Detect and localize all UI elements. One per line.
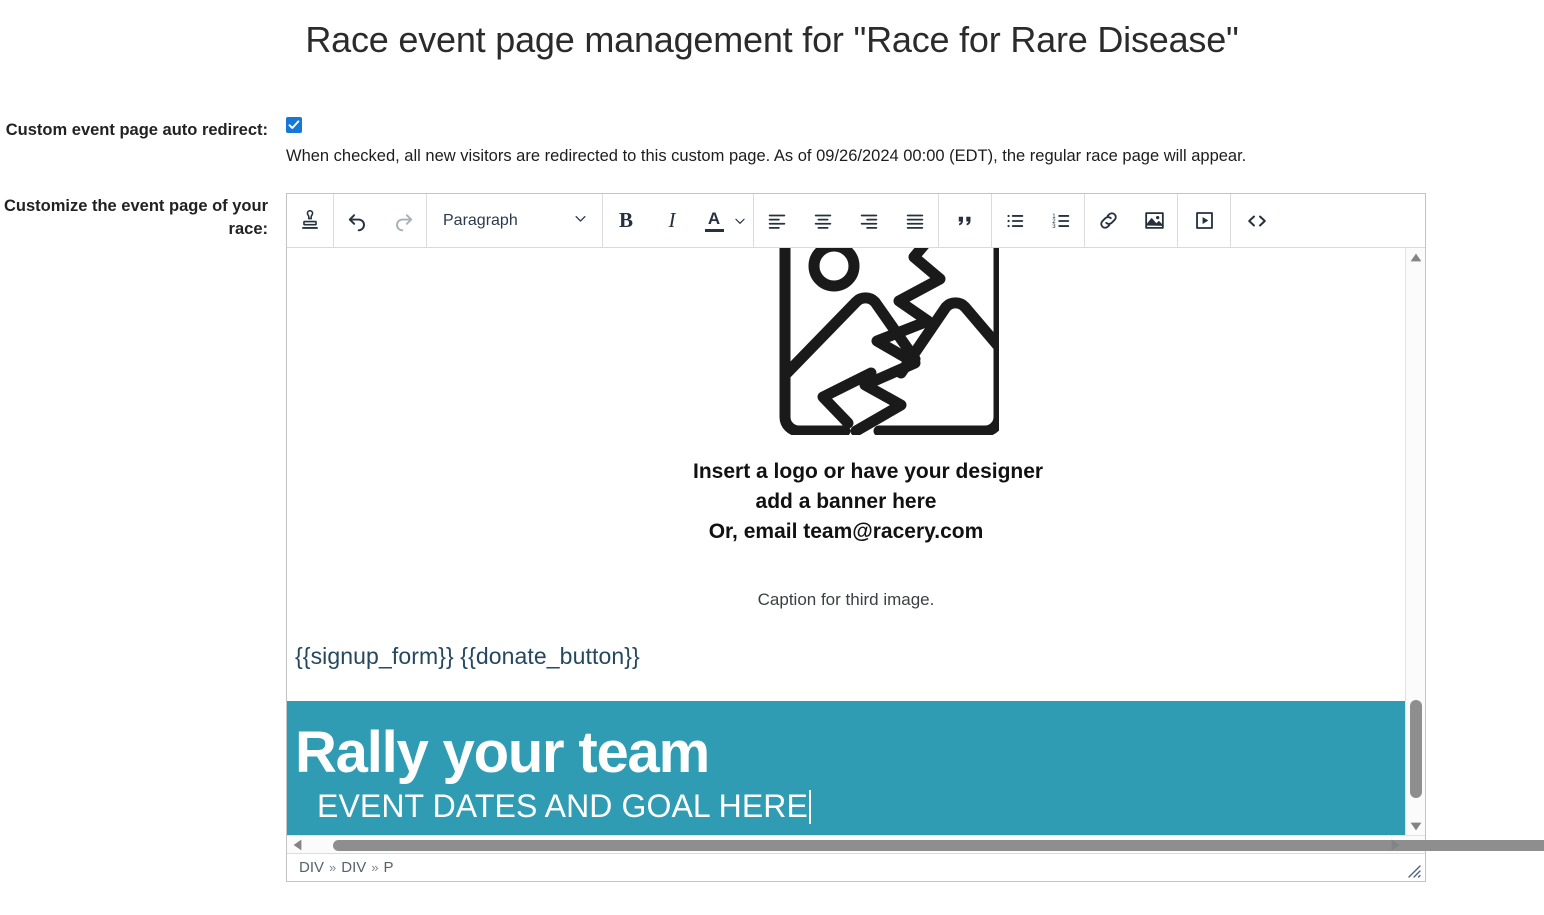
toolbar-group-blockquote: [939, 194, 992, 247]
text-color-icon[interactable]: A: [695, 194, 733, 247]
undo-icon[interactable]: [334, 194, 380, 247]
toolbar-group-source-code: [1231, 194, 1283, 247]
paragraph-format-select[interactable]: Paragraph: [427, 194, 602, 247]
template-tokens-line[interactable]: {{signup_form}} {{donate_button}}: [287, 643, 1405, 670]
align-justify-icon[interactable]: [892, 194, 938, 247]
scroll-right-arrow-icon[interactable]: [1387, 836, 1403, 854]
toolbar-group-source: [287, 194, 334, 247]
form-row-editor: Customize the event page of your race:: [0, 193, 1544, 882]
scroll-down-arrow-icon[interactable]: [1406, 817, 1425, 835]
toolbar-group-history: [334, 194, 427, 247]
page-title: Race event page management for "Race for…: [0, 0, 1544, 61]
paragraph-format-value: Paragraph: [443, 212, 518, 230]
vertical-scroll-thumb[interactable]: [1410, 700, 1422, 798]
align-left-icon[interactable]: [754, 194, 800, 247]
toolbar-group-media: [1178, 194, 1231, 247]
redo-icon[interactable]: [380, 194, 426, 247]
broken-image-icon: [693, 248, 999, 435]
editor-field: Paragraph B I: [268, 193, 1544, 882]
editor-resize-grip[interactable]: [1406, 863, 1422, 879]
text-caret: [809, 790, 811, 824]
source-code-icon[interactable]: [1231, 194, 1283, 247]
broken-image-placeholder[interactable]: Insert a logo or have your designeradd a…: [693, 248, 999, 609]
align-right-icon[interactable]: [846, 194, 892, 247]
element-path-separator: »: [371, 860, 378, 875]
toolbar-group-lists: 1 2 3: [992, 194, 1085, 247]
svg-text:3: 3: [1052, 224, 1056, 230]
editor-status-bar: DIV » DIV » P: [287, 853, 1425, 881]
paste-stamp-icon[interactable]: [287, 194, 333, 247]
text-color-dropdown-icon[interactable]: [733, 194, 753, 247]
rich-text-editor: Paragraph B I: [286, 193, 1426, 882]
auto-redirect-label: Custom event page auto redirect:: [0, 117, 268, 141]
editor-vertical-scrollbar[interactable]: [1405, 248, 1425, 835]
auto-redirect-checkbox[interactable]: [286, 117, 302, 133]
customize-event-page-label: Customize the event page of your race:: [0, 193, 268, 240]
check-icon: [288, 119, 300, 131]
editor-canvas[interactable]: Insert a logo or have your designeradd a…: [287, 248, 1405, 835]
numbered-list-icon[interactable]: 1 2 3: [1038, 194, 1084, 247]
bold-icon[interactable]: B: [603, 194, 649, 247]
form-row-auto-redirect: Custom event page auto redirect: When ch…: [0, 117, 1544, 167]
auto-redirect-help-text: When checked, all new visitors are redir…: [286, 145, 1544, 167]
toolbar-group-alignment: [754, 194, 939, 247]
editor-toolbar: Paragraph B I: [287, 194, 1425, 248]
bulleted-list-icon[interactable]: [992, 194, 1038, 247]
form-area: Custom event page auto redirect: When ch…: [0, 61, 1544, 882]
checkbox-wrapper: [286, 117, 1544, 133]
scroll-up-arrow-icon[interactable]: [1406, 248, 1425, 266]
editor-horizontal-scrollbar[interactable]: [287, 835, 1425, 853]
blockquote-icon[interactable]: [939, 194, 991, 247]
teal-banner-block[interactable]: Rally your team EVENT DATES AND GOAL HER…: [287, 701, 1405, 836]
chevron-down-icon: [573, 211, 588, 231]
element-path-separator: »: [329, 860, 336, 875]
toolbar-group-basic-styles: B I A: [603, 194, 754, 247]
link-icon[interactable]: [1085, 194, 1131, 247]
image-icon[interactable]: [1131, 194, 1177, 247]
banner-heading[interactable]: Rally your team: [295, 723, 1405, 782]
element-path-item-2[interactable]: P: [384, 859, 394, 876]
media-embed-icon[interactable]: [1178, 194, 1230, 247]
toolbar-group-block-format: Paragraph: [427, 194, 603, 247]
element-path-item-0[interactable]: DIV: [299, 859, 324, 876]
element-path-item-1[interactable]: DIV: [341, 859, 366, 876]
image-caption[interactable]: Caption for third image.: [693, 590, 999, 610]
scroll-left-arrow-icon[interactable]: [289, 836, 305, 854]
italic-icon[interactable]: I: [649, 194, 695, 247]
image-alt-text: Insert a logo or have your designeradd a…: [693, 457, 999, 547]
align-center-icon[interactable]: [800, 194, 846, 247]
editor-content-area[interactable]: Insert a logo or have your designeradd a…: [287, 248, 1425, 835]
auto-redirect-field: When checked, all new visitors are redir…: [268, 117, 1544, 167]
banner-subheading[interactable]: EVENT DATES AND GOAL HERE: [317, 788, 811, 825]
horizontal-scroll-thumb[interactable]: [333, 840, 1544, 851]
toolbar-group-insert: [1085, 194, 1178, 247]
